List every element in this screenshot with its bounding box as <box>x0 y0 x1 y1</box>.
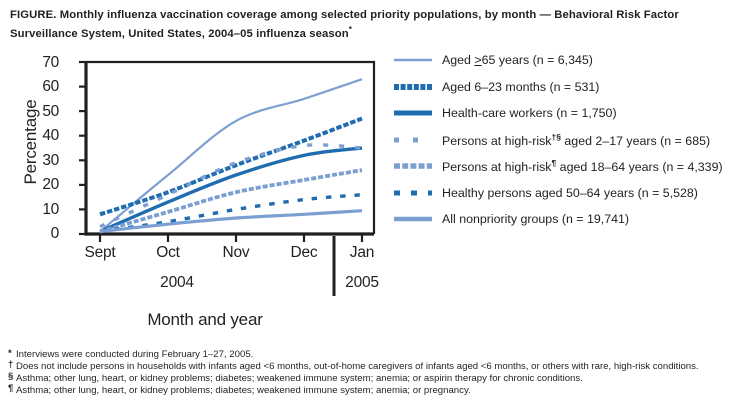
legend-label-high-risk-18-64: Persons at high-risk¶ aged 18–64 years (… <box>442 158 723 174</box>
plot-area <box>0 46 400 346</box>
footnote-text-section: Asthma; other lung, heart, or kidney pro… <box>16 373 583 384</box>
legend-label-high-risk-2-17: Persons at high-risk†§ aged 2–17 years (… <box>442 132 710 148</box>
legend-swatch-dotted-light <box>393 159 433 173</box>
footnote-marker-dagger: † <box>8 359 13 370</box>
figure-title-line1: FIGURE. Monthly influenza vaccination co… <box>10 9 679 21</box>
chart-region: Percentage 70 60 50 40 30 20 10 0 <box>0 46 400 346</box>
legend-swatch-dashed-dark <box>393 186 433 200</box>
title-superscript-asterisk: * <box>349 25 352 34</box>
legend-label-healthy-50-64: Healthy persons aged 50–64 years (n = 5,… <box>442 186 698 200</box>
footnote-text-pilcrow: Asthma; other lung, heart, or kidney pro… <box>16 385 471 396</box>
legend-label-aged-6-23-months: Aged 6–23 months (n = 531) <box>442 80 599 94</box>
footnote-section: § Asthma; other lung, heart, or kidney p… <box>8 373 732 384</box>
footnote-marker-pilcrow: ¶ <box>8 383 13 394</box>
footnote-marker-asterisk: * <box>8 348 12 359</box>
legend-label-all-nonpriority: All nonpriority groups (n = 19,741) <box>442 212 629 226</box>
legend-swatch-solid-dark <box>393 106 433 120</box>
x-tick-label-oct: Oct <box>133 244 203 262</box>
legend-superscript-dagger-section: †§ <box>552 132 561 142</box>
footnote-text-asterisk: Interviews were conducted during Februar… <box>16 349 253 360</box>
x-tick-label-jan: Jan <box>327 244 397 262</box>
year-label-2005: 2005 <box>322 274 402 292</box>
data-curves <box>100 79 362 231</box>
footnotes: * Interviews were conducted during Febru… <box>8 349 732 397</box>
legend-item-aged-65-plus[interactable]: Aged >65 years (n = 6,345) <box>393 47 736 74</box>
legend-item-high-risk-18-64[interactable]: Persons at high-risk¶ aged 18–64 years (… <box>393 153 736 180</box>
legend-swatch-solid-light <box>393 212 433 226</box>
footnote-pilcrow: ¶ Asthma; other lung, heart, or kidney p… <box>8 385 732 396</box>
x-axis-title: Month and year <box>60 310 350 330</box>
figure-title: FIGURE. Monthly influenza vaccination co… <box>10 8 726 41</box>
x-tick-label-nov: Nov <box>201 244 271 262</box>
chart-legend: Aged >65 years (n = 6,345) Aged 6–23 mon… <box>393 47 736 233</box>
legend-item-high-risk-2-17[interactable]: Persons at high-risk†§ aged 2–17 years (… <box>393 127 736 154</box>
legend-label-aged-65-plus: Aged >65 years (n = 6,345) <box>442 53 593 67</box>
footnote-dagger: † Does not include persons in households… <box>8 361 732 372</box>
footnote-marker-section: § <box>8 371 13 382</box>
legend-item-health-care-workers[interactable]: Health-care workers (n = 1,750) <box>393 100 736 127</box>
legend-item-all-nonpriority[interactable]: All nonpriority groups (n = 19,741) <box>393 206 736 233</box>
legend-item-healthy-50-64[interactable]: Healthy persons aged 50–64 years (n = 5,… <box>393 180 736 207</box>
footnote-text-dagger: Does not include persons in households w… <box>16 361 699 372</box>
legend-item-aged-6-23-months[interactable]: Aged 6–23 months (n = 531) <box>393 74 736 101</box>
figure-title-line2: Surveillance System, United States, 2004… <box>10 27 349 39</box>
legend-swatch-solid-light-thin <box>393 53 433 67</box>
legend-label-health-care-workers: Health-care workers (n = 1,750) <box>442 106 617 120</box>
x-axis-ticks <box>100 235 362 242</box>
legend-swatch-dotted-dark <box>393 80 433 94</box>
year-label-2004: 2004 <box>137 274 217 292</box>
legend-swatch-dashed-sparse-light <box>393 133 433 147</box>
x-tick-label-sept: Sept <box>65 244 135 262</box>
footnote-asterisk: * Interviews were conducted during Febru… <box>8 349 732 360</box>
